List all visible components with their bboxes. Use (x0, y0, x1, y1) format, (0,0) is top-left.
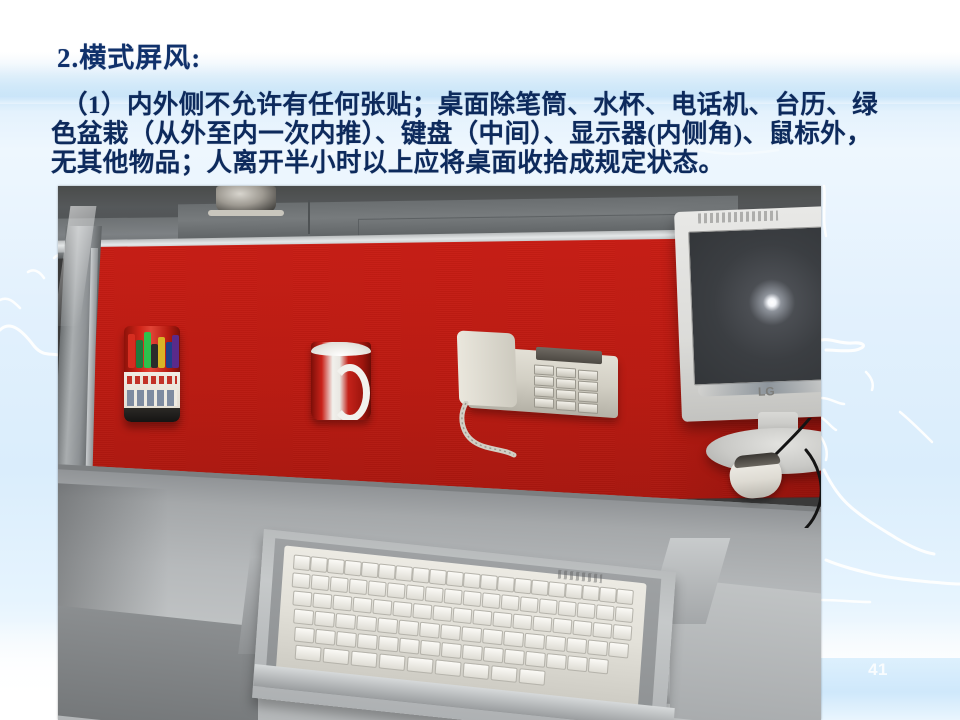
photo-pens-group (126, 332, 178, 372)
photo-keyboard-key (572, 620, 592, 637)
photo-keyboard-key (565, 583, 583, 600)
photo-keyboard-key (398, 619, 419, 636)
photo-keyboard-key (539, 598, 558, 615)
photo-under-desk-shadow (58, 605, 258, 720)
photo-keyboard-key (592, 622, 612, 639)
photo-keyboard-key (483, 646, 504, 663)
photo-keyboard-key (514, 578, 532, 595)
photo-pen-holder-label (124, 372, 180, 410)
photo-keyboard-key (566, 637, 587, 654)
photo-keyboard-key (432, 605, 452, 622)
photo-keyboard-key (357, 633, 378, 650)
photo-keyboard-key (315, 629, 336, 646)
photo-keyboard-key (395, 565, 413, 582)
photo-keyboard-key (482, 628, 503, 645)
photo-keyboard-key (293, 554, 311, 571)
photo-keyboard-key (294, 627, 315, 644)
photo-keyboard-key (392, 601, 412, 618)
photo-keyboard-key (429, 569, 447, 586)
photo-keyboard-key (378, 635, 399, 652)
photo-mug-rim (311, 342, 371, 356)
photo-keyboard-key (412, 567, 430, 584)
photo-keyboard-key (587, 639, 608, 656)
photo-keyboard-key (545, 635, 566, 652)
photo-keyboard-key (504, 649, 525, 666)
photo-keyboard-key (351, 651, 378, 669)
photo-keyboard-key (349, 578, 368, 595)
photo-keyboard-key (501, 594, 520, 611)
photo-keyboard-key (295, 645, 322, 663)
photo-keyboard-key (558, 600, 577, 617)
photo-keyboard-key (420, 640, 441, 657)
photo-monitor-brand-logo: LG (758, 383, 799, 399)
photo-keyboard-key (292, 590, 312, 607)
photo-keyboard-key (440, 624, 461, 641)
photo-keyboard-key (532, 616, 552, 633)
photo-cabinet-divider (308, 200, 310, 234)
photo-keyboard-key (599, 587, 617, 604)
office-desk-photo: LG (58, 186, 821, 720)
photo-telephone-keypad (534, 364, 606, 411)
photo-keyboard-key (377, 617, 398, 634)
photo-keyboard-key (332, 595, 352, 612)
photo-keyboard-key (491, 665, 518, 683)
photo-keyboard-key (441, 642, 462, 659)
photo-keyboard-key (399, 638, 420, 655)
photo-keyboard-key (463, 572, 481, 589)
photo-keyboard-key (406, 584, 425, 601)
photo-telephone-handset (457, 330, 518, 407)
photo-monitor-screen (688, 225, 821, 386)
photo-keyboard-key (314, 611, 335, 628)
photo-keyboard-key (312, 592, 332, 609)
photo-keyboard-key (480, 574, 498, 591)
photo-keyboard-key (452, 607, 472, 624)
photo-mug-handle (330, 364, 370, 420)
photo-keyboard-key (482, 592, 501, 609)
photo-keyboard-key (310, 556, 328, 573)
photo-keyboard-key (616, 588, 634, 605)
photo-keyboard-key (512, 614, 532, 631)
photo-keyboard-key (608, 642, 629, 659)
photo-keyboard-key (461, 626, 482, 643)
photo-keyboard-key (524, 633, 545, 650)
photo-keyboard-key (425, 586, 444, 603)
photo-keyboard-key (615, 606, 634, 623)
photo-keyboard-key (378, 563, 396, 580)
photo-keyboard-key (419, 622, 440, 639)
photo-keyboard-key (492, 611, 512, 628)
photo-telephone-cord (456, 401, 526, 461)
photo-keyboard-key (387, 582, 406, 599)
photo-keyboard-key (462, 644, 483, 661)
photo-pen-holder-base (124, 408, 180, 422)
photo-keyboard-key (344, 560, 362, 577)
photo-keyboard-key (567, 655, 588, 672)
page-number: 41 (868, 660, 888, 680)
page-title: 2.横式屏风: (57, 36, 201, 75)
photo-keyboard-key (612, 624, 632, 641)
photo-plant-pot (216, 186, 276, 212)
photo-keyboard-key (323, 648, 350, 666)
photo-keyboard-key (293, 608, 314, 625)
photo-keyboard-key (503, 631, 524, 648)
photo-keyboard-key (372, 599, 392, 616)
photo-pen-holder (124, 326, 180, 422)
photo-keyboard-key (361, 562, 379, 579)
photo-keyboard-key (519, 668, 546, 686)
photo-plant-pot-tray (208, 210, 284, 216)
photo-keyboard-key (520, 596, 539, 613)
photo-keyboard-key (582, 585, 600, 602)
photo-keyboard-key (444, 588, 463, 605)
photo-keyboard-key (463, 590, 482, 607)
photo-keyboard-key (472, 609, 492, 626)
slide-canvas: 2.横式屏风: （1）内外侧不允许有任何张贴；桌面除笔筒、水杯、电话机、台历、绿… (0, 0, 960, 720)
photo-keyboard-key (588, 657, 609, 674)
photo-keyboard-key (335, 613, 356, 630)
photo-keyboard-key (379, 653, 406, 671)
photo-keyboard-key (546, 653, 567, 670)
photo-keyboard-key (463, 662, 490, 680)
photo-keyboard-key (548, 581, 566, 598)
photo-keyboard-key (552, 618, 572, 635)
photo-keyboard-key (446, 571, 464, 588)
body-line-3: 无其他物品；人离开半小时以上应将桌面收拾成规定状态。 (51, 142, 724, 179)
photo-keyboard-key (525, 651, 546, 668)
photo-keyboard-key (368, 580, 387, 597)
photo-keyboard-key (497, 576, 515, 593)
photo-keyboard-key (412, 603, 432, 620)
photo-keyboard-key (292, 572, 311, 589)
photo-keyboard-key (330, 576, 349, 593)
photo-keyboard-key (352, 597, 372, 614)
photo-keyboard-key (356, 615, 377, 632)
photo-keyboard-key (327, 558, 345, 575)
photo-keyboard-key (336, 631, 357, 648)
photo-keyboard-key (596, 604, 615, 621)
photo-keyboard-key (311, 574, 330, 591)
photo-mug (311, 342, 371, 420)
photo-keyboard-key (407, 656, 434, 674)
photo-keyboard-key (435, 659, 462, 677)
photo-keyboard-key (577, 602, 596, 619)
photo-keyboard-key (531, 579, 549, 596)
